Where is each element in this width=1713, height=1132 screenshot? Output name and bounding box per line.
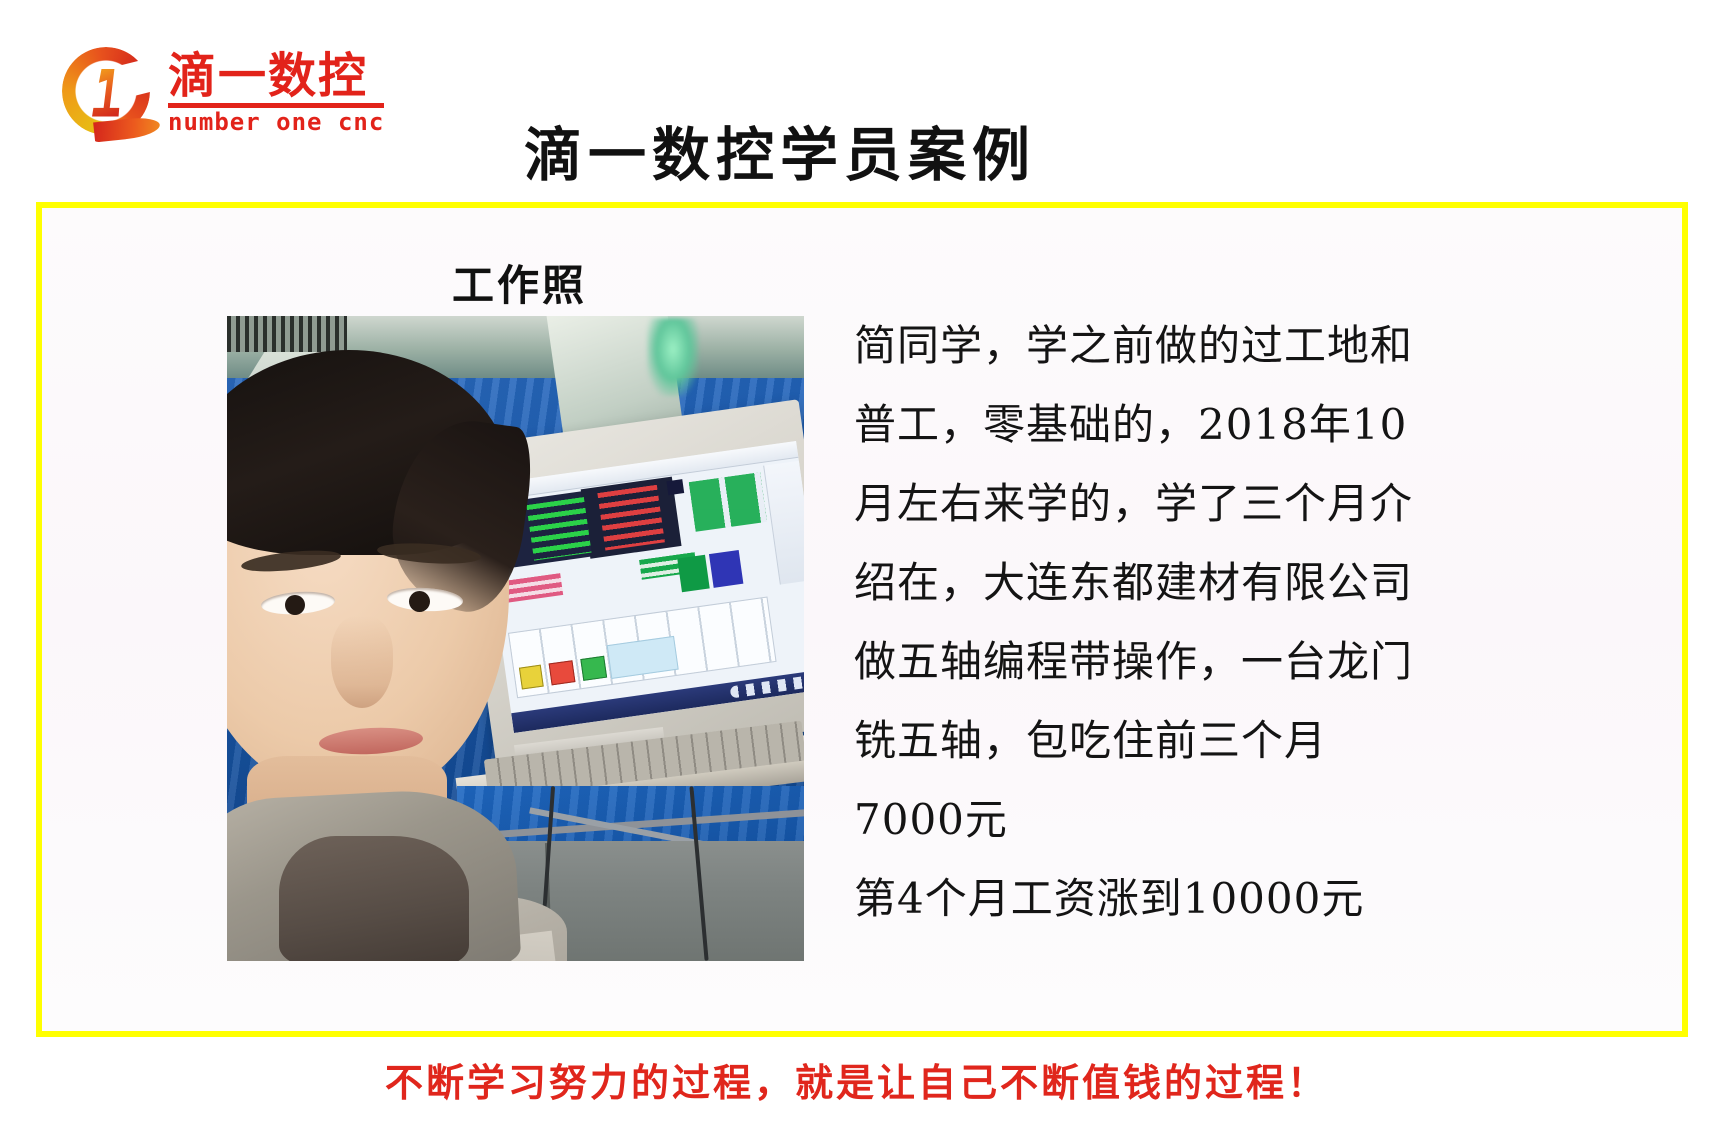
screen-run-icon xyxy=(580,656,607,681)
logo-chinese-name: 滴一数控 xyxy=(168,52,384,100)
case-text-line: 做五轴编程带操作，一台龙门 xyxy=(854,622,1544,701)
case-text-line: 月左右来学的，学了三个月介 xyxy=(854,464,1544,543)
screen-green-readout-rows xyxy=(526,497,591,561)
page-title: 滴一数控学员案例 xyxy=(430,108,1130,192)
photo-green-light-glow xyxy=(647,318,699,396)
screen-pink-alarm-box xyxy=(503,573,563,603)
case-text-line: 绍在，大连东都建材有限公司 xyxy=(854,543,1544,622)
logo-wordmark: 滴一数控 number one cnc xyxy=(168,52,384,134)
case-text-line: 铣五轴，包吃住前三个月 xyxy=(854,701,1544,780)
case-text-line: 第4个月工资涨到10000元 xyxy=(854,859,1544,938)
screen-warning-icon xyxy=(519,665,544,690)
logo-english-name: number one cnc xyxy=(168,110,384,134)
screen-close-button-icon xyxy=(666,479,684,495)
screen-red-readout-rows xyxy=(597,485,664,551)
photo-person-collar-inner xyxy=(279,836,469,961)
case-card: 工作照 xyxy=(36,202,1688,1037)
number-one-circle-icon xyxy=(60,45,156,141)
photo-person-pupil-right xyxy=(409,591,430,612)
case-description: 简同学，学之前做的过工地和 普工，零基础的，2018年10 月左右来学的，学了三… xyxy=(854,306,1544,938)
footer-slogan: 不断学习努力的过程，就是让自己不断值钱的过程！ xyxy=(0,1052,1713,1107)
photo-person-nose xyxy=(331,616,393,708)
work-photo xyxy=(227,316,804,961)
case-text-line: 简同学，学之前做的过工地和 xyxy=(854,306,1544,385)
logo-divider-rule xyxy=(168,103,384,108)
brand-logo: 滴一数控 number one cnc xyxy=(60,40,380,145)
screen-blue-tile xyxy=(709,550,743,588)
photo-person-pupil-left xyxy=(285,595,305,615)
screen-green-status-grid xyxy=(689,472,767,532)
case-text-line: 普工，零基础的，2018年10 xyxy=(854,385,1544,464)
screen-stop-icon xyxy=(549,660,576,685)
photo-ceiling-vent xyxy=(227,316,347,352)
screen-green-tile xyxy=(677,555,709,593)
photo-caption-label: 工作照 xyxy=(452,252,587,313)
screen-right-panel xyxy=(763,461,804,585)
case-text-line: 7000元 xyxy=(854,780,1544,859)
